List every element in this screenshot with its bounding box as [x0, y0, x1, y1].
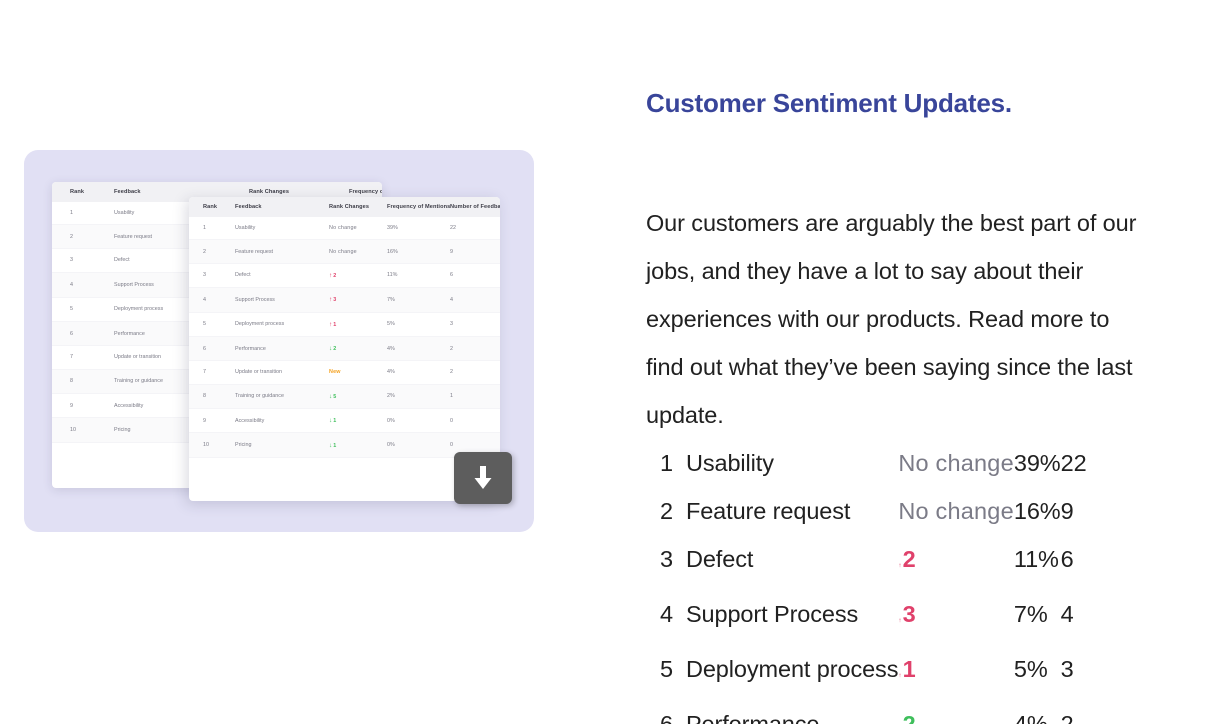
rank-no-change-label: No change: [898, 450, 1013, 476]
cell-frequency: 16%: [387, 240, 450, 263]
cell-frequency: 0%: [387, 409, 450, 433]
rank-no-change-label: No change: [329, 249, 357, 255]
rank-up-indicator: ↑3: [898, 601, 916, 627]
cell-frequency: 7%: [1014, 590, 1061, 645]
cell-rank: 4: [52, 273, 114, 297]
rank-down-indicator: ↓1: [329, 443, 337, 449]
cell-rank: 4: [646, 590, 686, 645]
feedback-table-front-body: 1UsabilityNo change39%222Feature request…: [189, 217, 500, 457]
cell-rank-change: ↓2: [329, 336, 387, 360]
cell-count: 3: [1061, 645, 1087, 700]
cell-feedback: Deployment process: [686, 645, 898, 700]
rank-no-change-label: No change: [898, 498, 1013, 524]
cell-count: 3: [450, 312, 500, 336]
cell-rank: 2: [189, 240, 235, 263]
arrow-down-icon: ↓: [329, 442, 332, 449]
table-row: 3Defect↑211%6: [646, 535, 1087, 590]
arrow-up-icon: ↑: [329, 272, 332, 279]
cell-frequency: 5%: [1014, 645, 1061, 700]
cell-frequency: 11%: [1014, 535, 1061, 590]
table-row: 7Update or transitionNew4%2: [189, 361, 500, 384]
download-badge[interactable]: [454, 452, 512, 504]
cell-rank-change: ↑1: [898, 645, 1013, 700]
cell-feedback: Performance: [235, 336, 329, 360]
cell-feedback: Pricing: [235, 433, 329, 457]
cell-frequency: 0%: [387, 433, 450, 457]
cell-count: 0: [450, 409, 500, 433]
cell-rank-change: ↑2: [329, 263, 387, 287]
cell-frequency: 16%: [1014, 487, 1061, 535]
cell-frequency: 2%: [387, 384, 450, 408]
cell-rank: 1: [189, 217, 235, 240]
cell-rank-change: ↓5: [329, 384, 387, 408]
cell-rank-change: ↓1: [329, 409, 387, 433]
cell-frequency: 39%: [387, 217, 450, 240]
cell-rank: 2: [646, 487, 686, 535]
cell-count: 1: [450, 384, 500, 408]
col-header-rank: Rank: [189, 197, 235, 217]
arrow-down-icon: ↓: [329, 417, 332, 424]
table-row: 6Performance↓24%2: [646, 700, 1087, 724]
cell-rank: 10: [189, 433, 235, 457]
cell-frequency: 11%: [387, 263, 450, 287]
cell-rank: 5: [52, 297, 114, 321]
cell-feedback: Usability: [235, 217, 329, 240]
col-header-feedback: Feedback: [235, 197, 329, 217]
table-row: 1UsabilityNo change39%22: [189, 217, 500, 240]
cell-feedback: Feature request: [235, 240, 329, 263]
cell-count: 9: [450, 240, 500, 263]
cell-count: 4: [450, 288, 500, 312]
cell-feedback: Defect: [686, 535, 898, 590]
rank-down-indicator: ↓2: [898, 711, 916, 724]
cell-feedback: Update or transition: [235, 361, 329, 384]
article-media: Rank Feedback Rank Changes Frequency of …: [24, 150, 534, 532]
cell-frequency: 4%: [387, 361, 450, 384]
table-row: 4Support Process↑37%4: [189, 288, 500, 312]
table-row: 2Feature requestNo change16%9: [646, 487, 1087, 535]
cell-rank: 9: [189, 409, 235, 433]
cell-rank-change: ↓2: [898, 700, 1013, 724]
feedback-table-front: Rank Feedback Rank Changes Frequency of …: [189, 197, 500, 458]
cell-rank: 3: [646, 535, 686, 590]
rank-no-change-label: No change: [329, 225, 357, 231]
cell-rank: 6: [189, 336, 235, 360]
cell-count: 2: [1061, 700, 1087, 724]
cell-rank: 5: [189, 312, 235, 336]
cell-rank: 3: [189, 263, 235, 287]
cell-rank-change: No change: [898, 487, 1013, 535]
table-row: 10Pricing↓10%0: [189, 433, 500, 457]
download-arrow-icon: [470, 464, 496, 492]
cell-count: 6: [1061, 535, 1087, 590]
page-title: Customer Sentiment Updates.: [646, 88, 1166, 119]
table-row: 2Feature requestNo change16%9: [189, 240, 500, 263]
arrow-up-icon: ↑: [329, 296, 332, 303]
cell-frequency: 7%: [387, 288, 450, 312]
cell-frequency: 4%: [387, 336, 450, 360]
cell-rank: 6: [646, 700, 686, 724]
col-header-frequency: Frequency of Mentions: [387, 197, 450, 217]
col-header-rank-changes: Rank Changes: [329, 197, 387, 217]
arrow-down-icon: ↓: [329, 393, 332, 400]
rank-up-indicator: ↑2: [898, 546, 916, 572]
cell-feedback: Feature request: [686, 487, 898, 535]
cell-count: 4: [1061, 590, 1087, 645]
cell-feedback: Deployment process: [235, 312, 329, 336]
cell-count: 22: [1061, 439, 1087, 487]
cell-rank: 1: [52, 202, 114, 225]
arrow-up-icon: ↑: [898, 617, 901, 624]
rank-up-indicator: ↑1: [329, 322, 337, 328]
cell-count: 2: [450, 336, 500, 360]
cell-feedback: Defect: [235, 263, 329, 287]
rank-up-indicator: ↑3: [329, 297, 337, 303]
cell-rank: 10: [52, 418, 114, 442]
table-row: 3Defect↑211%6: [189, 263, 500, 287]
article-body: Our customers are arguably the best part…: [646, 199, 1146, 724]
table-row: 6Performance↓24%2: [189, 336, 500, 360]
cell-count: 9: [1061, 487, 1087, 535]
table-header-row: Rank Feedback Rank Changes Frequency of …: [189, 197, 500, 217]
rank-up-indicator: ↑2: [329, 273, 337, 279]
rank-up-indicator: ↑1: [898, 656, 916, 682]
cell-rank: 8: [52, 369, 114, 393]
cell-rank: 1: [646, 439, 686, 487]
cell-feedback: Accessibility: [235, 409, 329, 433]
cell-rank-change: ↑3: [898, 590, 1013, 645]
cell-rank-change: No change: [329, 240, 387, 263]
cell-frequency: 4%: [1014, 700, 1061, 724]
cell-count: 6: [450, 263, 500, 287]
cell-rank-change: ↑3: [329, 288, 387, 312]
cell-rank-change: ↓1: [329, 433, 387, 457]
arrow-up-icon: ↑: [329, 321, 332, 328]
table-row: 5Deployment process↑15%3: [646, 645, 1087, 700]
cell-rank: 3: [52, 248, 114, 272]
cell-rank: 4: [189, 288, 235, 312]
cell-rank: 2: [52, 225, 114, 248]
cell-rank-change: New: [329, 361, 387, 384]
cell-rank: 8: [189, 384, 235, 408]
cell-rank: 7: [52, 346, 114, 369]
arrow-down-icon: ↓: [329, 345, 332, 352]
cell-count: 22: [450, 217, 500, 240]
rank-down-indicator: ↓5: [329, 394, 337, 400]
cell-rank: 7: [189, 361, 235, 384]
col-header-rank: Rank: [52, 182, 114, 202]
article-copy: Customer Sentiment Updates. Our customer…: [646, 88, 1166, 724]
table-row: 8Training or guidance↓52%1: [189, 384, 500, 408]
cell-feedback: Performance: [686, 700, 898, 724]
table-row: 4Support Process↑37%4: [646, 590, 1087, 645]
cell-feedback: Support Process: [686, 590, 898, 645]
cell-frequency: 39%: [1014, 439, 1061, 487]
rank-down-indicator: ↓2: [329, 346, 337, 352]
arrow-up-icon: ↑: [898, 672, 901, 679]
cell-feedback: Support Process: [235, 288, 329, 312]
table-row: 1UsabilityNo change39%22: [646, 439, 1087, 487]
cell-rank: 6: [52, 321, 114, 345]
rank-new-badge: New: [329, 369, 341, 375]
cell-rank-change: No change: [329, 217, 387, 240]
cell-rank-change: ↑1: [329, 312, 387, 336]
cell-rank-change: No change: [898, 439, 1013, 487]
cell-frequency: 5%: [387, 312, 450, 336]
cell-feedback: Usability: [686, 439, 898, 487]
cell-feedback: Training or guidance: [235, 384, 329, 408]
cell-rank: 9: [52, 394, 114, 418]
cell-count: 2: [450, 361, 500, 384]
cell-rank-change: ↑2: [898, 535, 1013, 590]
col-header-count: Number of Feedback: [450, 197, 500, 217]
rank-down-indicator: ↓1: [329, 418, 337, 424]
table-row: 5Deployment process↑15%3: [189, 312, 500, 336]
cell-rank: 5: [646, 645, 686, 700]
table-row: 9Accessibility↓10%0: [189, 409, 500, 433]
page-root: Rank Feedback Rank Changes Frequency of …: [0, 0, 1218, 724]
arrow-up-icon: ↑: [898, 562, 901, 569]
